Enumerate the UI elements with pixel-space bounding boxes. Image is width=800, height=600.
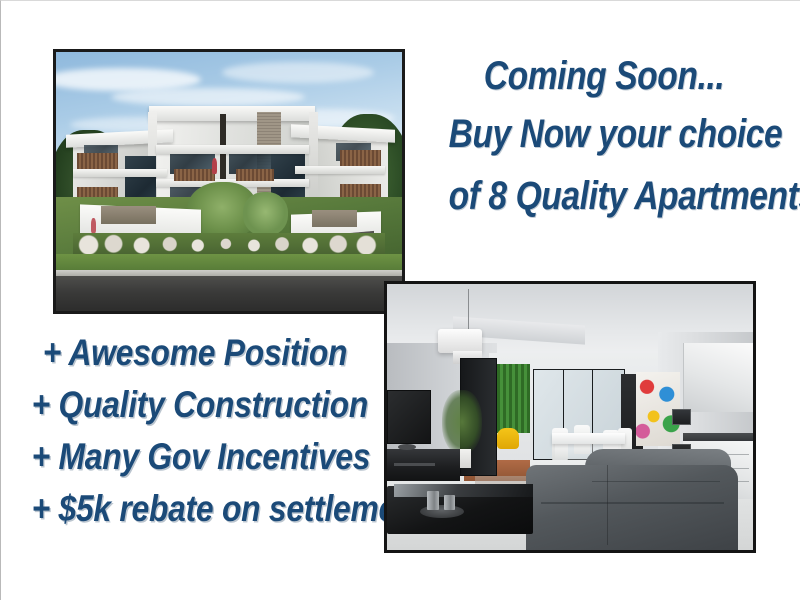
sofa-seam xyxy=(541,502,724,504)
kitchen-benchtop xyxy=(683,433,753,441)
feature-item: + Awesome Position xyxy=(32,327,359,379)
balcony-slab xyxy=(156,145,308,153)
candle-holder xyxy=(444,495,456,510)
feature-list: + Awesome Position + Quality Constructio… xyxy=(5,327,385,535)
pendant-cord xyxy=(468,289,469,332)
interior-photo xyxy=(384,281,756,553)
headline-block: Coming Soon... Buy Now your choice of 8 … xyxy=(419,49,789,227)
cloud xyxy=(56,68,201,91)
tv-console xyxy=(387,449,460,481)
road xyxy=(56,276,402,311)
sofa xyxy=(526,465,738,550)
timber-screen xyxy=(174,169,216,182)
headline-line-3: of 8 Quality Apartments xyxy=(449,165,760,227)
address-sign xyxy=(101,206,156,224)
kitchen-overhead-cabinets xyxy=(683,343,753,412)
timber-screen xyxy=(236,169,274,182)
roof-slab xyxy=(149,106,315,120)
candle-holder xyxy=(427,491,439,510)
exterior-photo xyxy=(53,49,405,314)
headline-line-1: Coming Soon... xyxy=(449,49,760,103)
exterior-scene xyxy=(56,52,402,311)
sofa-seam xyxy=(607,465,609,545)
feature-item: + Many Gov Incentives xyxy=(32,431,359,483)
address-sign xyxy=(312,210,357,227)
sofa-seam xyxy=(592,481,720,483)
timber-screen xyxy=(77,153,119,169)
dining-table xyxy=(552,433,625,444)
feature-item: + $5k rebate on settlement xyxy=(32,483,359,535)
interior-scene xyxy=(387,284,753,550)
coffee-table-top xyxy=(394,484,533,497)
timber-screen xyxy=(340,150,382,166)
headline-line-2: Buy Now your choice xyxy=(449,103,760,165)
feature-item: + Quality Construction xyxy=(32,379,359,431)
microwave xyxy=(672,409,690,425)
advertisement-canvas: Coming Soon... Buy Now your choice of 8 … xyxy=(0,0,800,600)
indoor-plant xyxy=(442,390,482,454)
yellow-chair xyxy=(497,428,519,449)
cloud xyxy=(222,62,374,83)
balcony-slab xyxy=(73,169,166,177)
figure-on-balcony xyxy=(212,158,218,174)
balcony-slab xyxy=(295,166,385,174)
garden-tree xyxy=(243,192,288,236)
figure-at-entry xyxy=(91,218,96,234)
wall-mounted-tv xyxy=(387,390,431,443)
